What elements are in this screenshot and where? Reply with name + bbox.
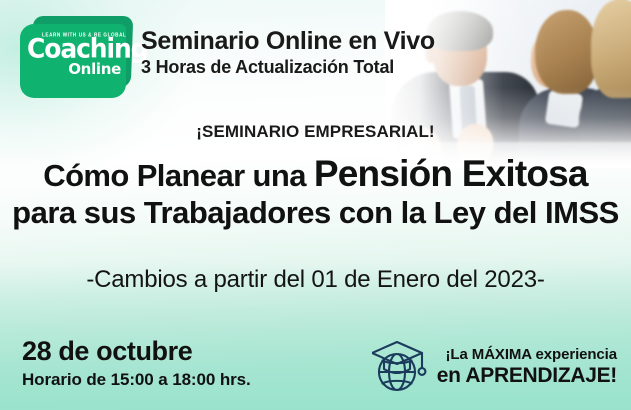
coaching-online-logo[interactable]: LEARN WITH US & BE GLOBAL Coaching Onlin… [20, 16, 138, 100]
title-line-1-lead: Cómo Planear una [43, 158, 314, 193]
header-line-2: 3 Horas de Actualización Total [141, 56, 435, 79]
learning-badge-text: ¡La MÁXIMA experiencia en APRENDIZAJE! [437, 346, 617, 388]
graduation-globe-icon [372, 336, 428, 398]
kicker-label: ¡SEMINARIO EMPRESARIAL! [0, 122, 631, 142]
subtitle-changes-note: -Cambios a partir del 01 de Enero del 20… [0, 266, 631, 294]
event-date-block: 28 de octubre Horario de 15:00 a 18:00 h… [22, 336, 251, 391]
learning-badge-line-1: ¡La MÁXIMA experiencia [437, 346, 617, 364]
event-time: Horario de 15:00 a 18:00 hrs. [22, 369, 251, 391]
business-meeting-photo [385, 0, 631, 168]
title-line-1-emphasis: Pensión Exitosa [314, 153, 588, 194]
event-date: 28 de octubre [22, 336, 251, 367]
logo-word-online: Online [27, 62, 121, 77]
seminar-header: Seminario Online en Vivo 3 Horas de Actu… [141, 28, 435, 78]
main-title: Cómo Planear una Pensión Exitosa para su… [0, 155, 631, 228]
header-line-1: Seminario Online en Vivo [141, 28, 435, 56]
promotional-banner: LEARN WITH US & BE GLOBAL Coaching Onlin… [0, 0, 631, 410]
title-line-2: para sus Trabajadores con la Ley del IMS… [0, 197, 631, 229]
logo-word-coaching: Coaching [27, 35, 147, 62]
photo-fade-mask [385, 0, 631, 168]
title-line-1: Cómo Planear una Pensión Exitosa [0, 155, 631, 193]
learning-badge: ¡La MÁXIMA experiencia en APRENDIZAJE! [372, 336, 617, 398]
learning-badge-line-2: en APRENDIZAJE! [437, 364, 617, 388]
